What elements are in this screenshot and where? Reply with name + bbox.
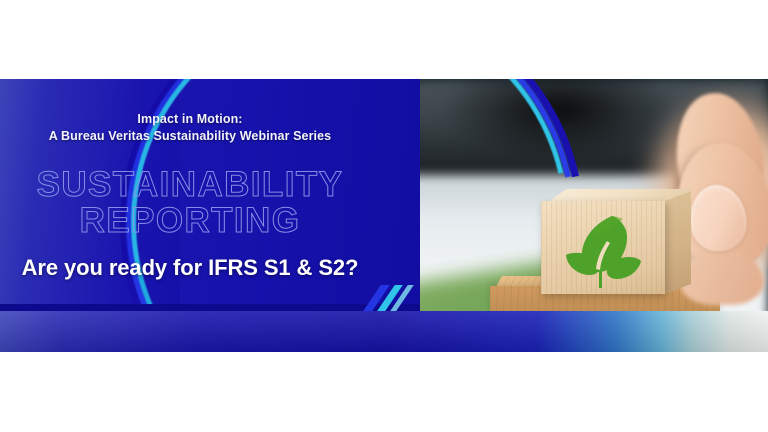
stamp-side-face <box>665 191 691 294</box>
outline-title-line-1: SUSTAINABILITY <box>0 167 380 203</box>
banner-headline: Are you ready for IFRS S1 & S2? <box>0 255 380 281</box>
eyebrow-line-1: Impact in Motion: <box>0 111 380 128</box>
screenshot-canvas: Impact in Motion: A Bureau Veritas Susta… <box>0 0 768 432</box>
banner-outline-title: SUSTAINABILITY REPORTING <box>0 167 380 239</box>
banner-eyebrow: Impact in Motion: A Bureau Veritas Susta… <box>0 111 380 145</box>
banner-text-block: Impact in Motion: A Bureau Veritas Susta… <box>0 79 380 352</box>
outline-title-line-2: REPORTING <box>0 203 380 239</box>
eyebrow-line-2: A Bureau Veritas Sustainability Webinar … <box>0 128 380 145</box>
stamp-front-face <box>541 201 665 294</box>
green-leaf-icon <box>557 214 651 290</box>
webinar-banner: Impact in Motion: A Bureau Veritas Susta… <box>0 79 768 352</box>
wooden-stamp-block <box>541 189 693 294</box>
